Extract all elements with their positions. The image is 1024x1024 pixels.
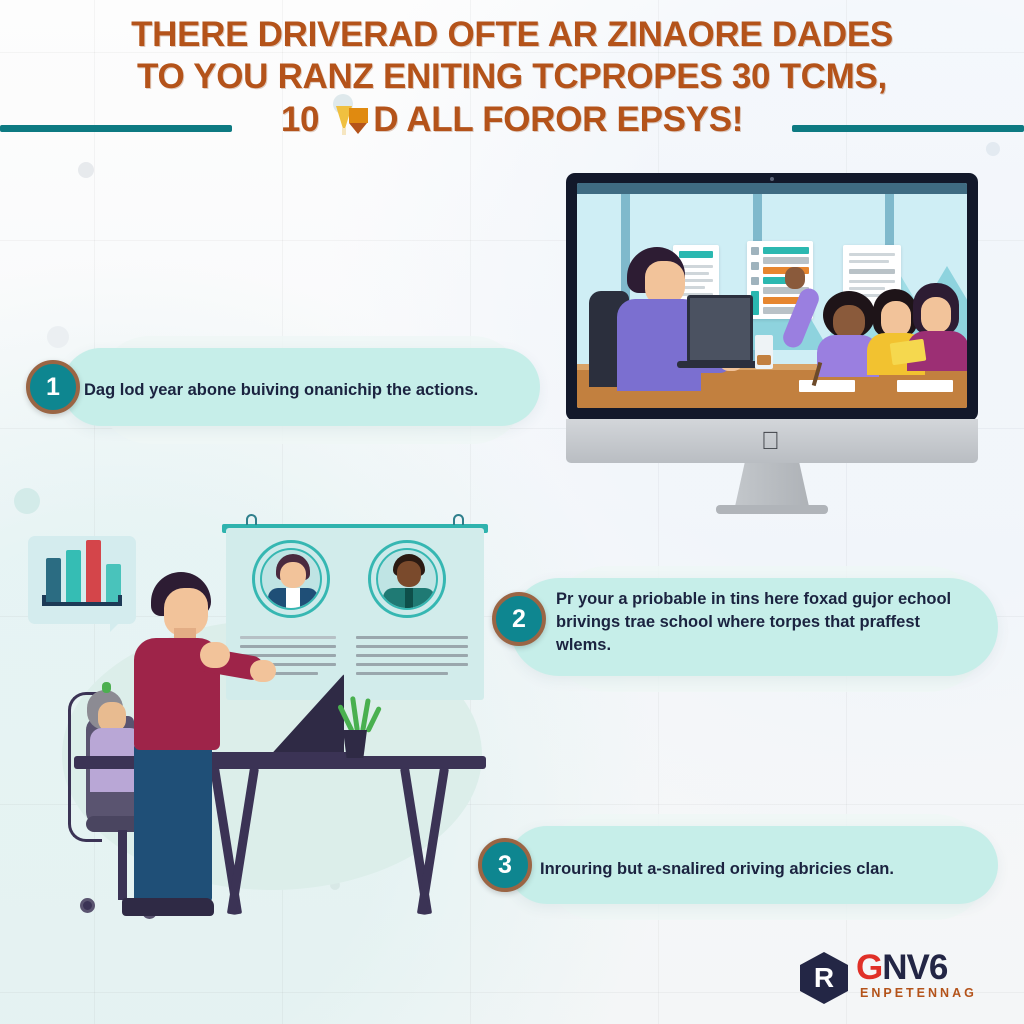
title-line-3-post: D ALL FOROR EPSYS! [373, 99, 743, 141]
dashboard-bar-teal [763, 247, 809, 254]
desk-paper [897, 380, 953, 392]
dashboard-bar-grey [763, 257, 809, 264]
laptop-base [204, 752, 349, 760]
brand-logo[interactable]: R GNV6 ENPETENNAG [800, 948, 1000, 1010]
apple-logo:  [761, 429, 783, 455]
teacher-laptop-base [677, 361, 765, 368]
step-text-2: Pr your a priobable in tins here foxad g… [556, 588, 956, 657]
avatar-face [397, 561, 421, 587]
doc-line [849, 253, 895, 256]
title-line-3: 10 D ALL FOROR EPSYS! [0, 98, 1024, 142]
profile-text-line [356, 636, 468, 639]
monitor-stand-neck [734, 463, 810, 511]
doc-line [849, 280, 895, 283]
decor-dot [47, 326, 69, 348]
step-badge-2: 2 [492, 592, 546, 646]
step-text-1: Dag lod year abone buiving onanichip the… [84, 379, 514, 402]
profile-text-line [356, 672, 448, 675]
profile-text-line [240, 636, 336, 639]
standing-man-typing-hand [250, 660, 276, 682]
dashboard-chip [751, 247, 759, 255]
recruiter-desk-illustration [14, 520, 494, 940]
cup-label [757, 355, 771, 365]
title-line-1: THERE DRIVERAD OFTE AR ZINAORE DADES [0, 14, 1024, 56]
decor-dot [986, 142, 1000, 156]
student-magenta [907, 283, 967, 371]
student-raised-hand [785, 267, 805, 289]
chart-bar [46, 558, 61, 602]
desk-paper [799, 380, 855, 392]
dashboard-chip [751, 262, 759, 270]
pencil-triangle [349, 123, 367, 134]
profile-text-line [356, 663, 468, 666]
doc-accent-bar [849, 269, 895, 274]
monitor-screen [577, 183, 967, 408]
board-hook-icon [246, 514, 257, 525]
candidate-avatar-1 [252, 540, 330, 618]
title-line-3-pre: 10 [281, 99, 319, 141]
seated-child-hair-tuft [102, 682, 111, 693]
board-hook-icon [453, 514, 464, 525]
student-notebook [890, 339, 927, 366]
logo-word-rest: NV6 [882, 948, 947, 987]
step-text-3: Inrouring but a-snalired oriving abricie… [540, 858, 970, 881]
avatar-tie [405, 588, 413, 610]
chart-axis [42, 602, 122, 606]
student-face [833, 305, 865, 339]
pencil-tip [342, 128, 346, 135]
office-chair-post [118, 830, 127, 900]
chart-bar [86, 540, 101, 602]
logo-hex-mark: R [800, 952, 848, 1004]
page-header: THERE DRIVERAD OFTE AR ZINAORE DADES TO … [0, 14, 1024, 142]
avatar-face [280, 562, 306, 588]
divider-rule-left [0, 125, 232, 132]
chart-bar [66, 550, 81, 602]
avatar-collar [286, 588, 300, 610]
monitor-stand-foot [716, 505, 828, 514]
profile-text-line [356, 654, 468, 657]
webcam-icon [770, 177, 774, 181]
step-badge-3: 3 [478, 838, 532, 892]
standing-man-shoe [122, 898, 214, 916]
pencil-bulb-icon [325, 98, 367, 142]
profile-text-line [356, 645, 468, 648]
decor-dot [14, 488, 40, 514]
profile-text-line [240, 645, 336, 648]
logo-word-accent: G [856, 948, 882, 987]
screen-top-bar [577, 183, 967, 194]
candidate-avatar-2 [368, 540, 446, 618]
logo-tagline: ENPETENNAG [860, 986, 977, 1000]
title-line-2: TO YOU RANZ ENITING TCPROPES 30 TCMS, [0, 56, 1024, 98]
pencil-square [349, 108, 368, 123]
standing-man-pants [134, 742, 212, 902]
monitor-bezel [566, 173, 978, 421]
student-face [921, 297, 951, 333]
teacher-laptop-screen [687, 295, 753, 363]
chair-caster [80, 898, 95, 913]
decor-dot [78, 162, 94, 178]
doc-line [849, 260, 889, 263]
divider-rule-right [792, 125, 1024, 132]
step-badge-1: 1 [26, 360, 80, 414]
avatar-inner [376, 548, 438, 610]
bar-chart-speech-panel [28, 536, 136, 624]
classroom-monitor-illustration:  [566, 173, 978, 503]
standing-man-gesture-hand [200, 642, 230, 668]
avatar-inner [260, 548, 322, 610]
dashboard-chip [751, 277, 759, 285]
logo-wordmark: GNV6 [856, 950, 947, 986]
speech-bubble-tail [110, 616, 126, 632]
